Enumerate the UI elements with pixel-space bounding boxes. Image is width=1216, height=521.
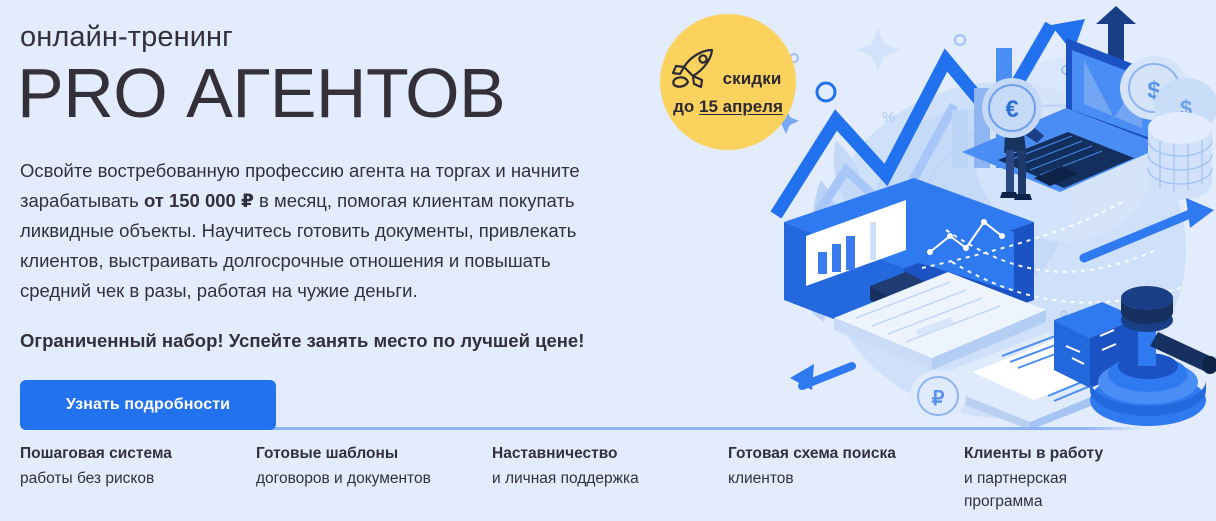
feature-title: Пошаговая система <box>20 443 244 465</box>
hero-banner: % ♀ <box>0 0 1216 521</box>
discount-badge-content: скидки до 15 апреля <box>660 14 796 150</box>
hero-illustration: % ♀ <box>766 0 1216 430</box>
svg-text:₽: ₽ <box>932 388 945 410</box>
feature-title: Клиенты в работу <box>964 443 1188 465</box>
eyebrow-text: онлайн-тренинг <box>20 20 640 54</box>
feature-title: Наставничество <box>492 443 716 465</box>
feature-subtitle: договоров и документов <box>256 467 431 490</box>
feature-item-5: Клиенты в работу и партнерская программа <box>964 443 1200 513</box>
discount-deadline: до 15 апреля <box>673 97 783 117</box>
details-button[interactable]: Узнать подробности <box>20 380 276 430</box>
discount-badge[interactable]: скидки до 15 апреля <box>660 14 796 150</box>
page-title: PRO АГЕНТОВ <box>17 56 640 130</box>
deadline-date: 15 апреля <box>699 97 783 116</box>
rocket-icon <box>671 47 719 96</box>
feature-subtitle: работы без рисков <box>20 467 195 490</box>
hero-copy: онлайн-тренинг PRO АГЕНТОВ Освойте востр… <box>20 20 640 430</box>
feature-title: Готовые шаблоны <box>256 443 480 465</box>
urgency-note: Ограниченный набор! Успейте занять место… <box>20 328 640 354</box>
svg-text:%: % <box>882 109 895 126</box>
hero-description: Освойте востребованную профессию агента … <box>20 156 620 306</box>
feature-subtitle: клиентов <box>728 467 903 490</box>
discount-badge-row-primary: скидки <box>671 47 782 96</box>
feature-list: Пошаговая система работы без рисков Гото… <box>20 443 1200 513</box>
feature-subtitle: и партнерская программа <box>964 467 1139 513</box>
svg-text:€: € <box>1005 96 1018 123</box>
feature-item-1: Пошаговая система работы без рисков <box>20 443 256 513</box>
feature-item-2: Готовые шаблоны договоров и документов <box>256 443 492 513</box>
deadline-prefix: до <box>673 97 699 116</box>
price-highlight: от 150 000 ₽ <box>144 190 254 211</box>
feature-item-3: Наставничество и личная поддержка <box>492 443 728 513</box>
feature-title: Готовая схема поиска <box>728 443 952 465</box>
discount-label: скидки <box>723 69 782 89</box>
feature-subtitle: и личная поддержка <box>492 467 667 490</box>
feature-item-4: Готовая схема поиска клиентов <box>728 443 964 513</box>
